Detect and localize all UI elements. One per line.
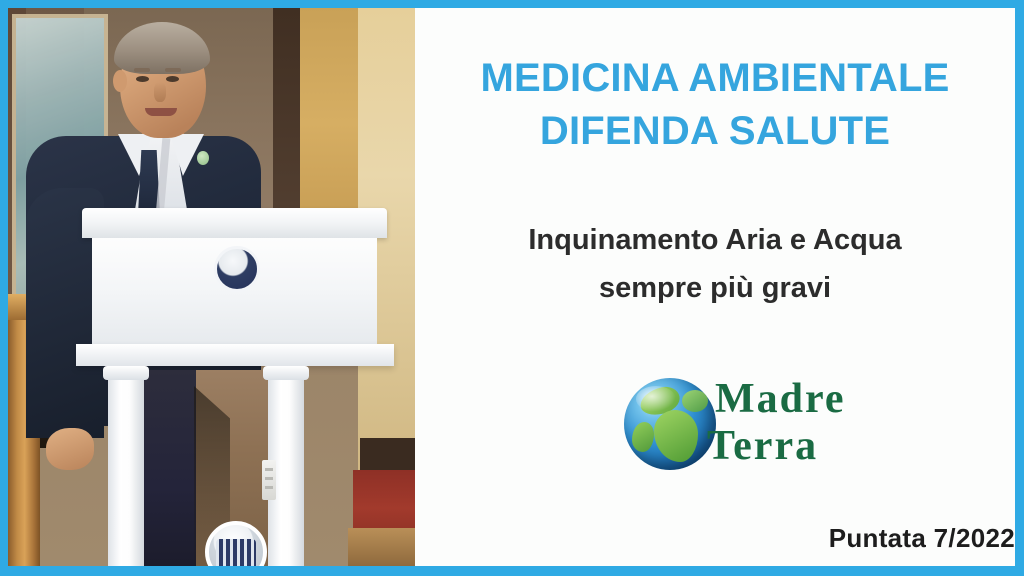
globe-landmass-west bbox=[632, 422, 654, 452]
podium-ledge bbox=[76, 344, 394, 366]
slide-title: MEDICINA AMBIENTALE DIFENDA SALUTE bbox=[415, 52, 1015, 158]
madre-terra-logo: Madre Terra bbox=[620, 370, 880, 490]
lapel-pin bbox=[197, 151, 209, 165]
hand bbox=[46, 428, 94, 470]
mouth bbox=[145, 108, 177, 116]
frame-border-left bbox=[0, 0, 8, 576]
title-line-2: DIFENDA SALUTE bbox=[415, 105, 1015, 158]
title-line-1: MEDICINA AMBIENTALE bbox=[415, 52, 1015, 105]
nose bbox=[154, 82, 166, 102]
eyebrow-right bbox=[165, 68, 181, 72]
eye-right bbox=[166, 76, 179, 82]
eyebrow-left bbox=[134, 68, 150, 72]
globe-icon bbox=[624, 378, 716, 470]
slide-subtitle: Inquinamento Aria e Acqua sempre più gra… bbox=[415, 216, 1015, 312]
logo-line-1: Madre bbox=[715, 376, 880, 423]
globe-landmass-east bbox=[682, 390, 708, 412]
ear bbox=[113, 70, 127, 92]
presentation-slide: MEDICINA AMBIENTALE DIFENDA SALUTE Inqui… bbox=[0, 0, 1024, 576]
frame-border-top bbox=[0, 0, 1024, 8]
episode-label: Puntata 7/2022 bbox=[415, 523, 1015, 554]
podium-seal-icon bbox=[214, 246, 260, 292]
podium-interior-dark bbox=[144, 370, 196, 566]
text-panel: MEDICINA AMBIENTALE DIFENDA SALUTE Inqui… bbox=[415, 8, 1015, 566]
podium-top bbox=[82, 208, 387, 238]
podium-column-left bbox=[108, 366, 144, 566]
logo-wordmark: Madre Terra bbox=[715, 376, 880, 470]
eye-left bbox=[136, 76, 149, 82]
wall-socket bbox=[262, 460, 276, 500]
slide-content: MEDICINA AMBIENTALE DIFENDA SALUTE Inqui… bbox=[8, 8, 1015, 566]
speaker-photo bbox=[8, 8, 415, 566]
subtitle-line-2: sempre più gravi bbox=[415, 264, 1015, 312]
subtitle-line-1: Inquinamento Aria e Acqua bbox=[415, 216, 1015, 264]
frame-border-bottom bbox=[0, 566, 1024, 576]
hair bbox=[114, 22, 210, 74]
frame-border-right bbox=[1015, 0, 1024, 576]
logo-line-2: Terra bbox=[707, 423, 880, 470]
globe-highlight bbox=[636, 386, 676, 412]
globe-landmass-africa bbox=[654, 410, 698, 462]
